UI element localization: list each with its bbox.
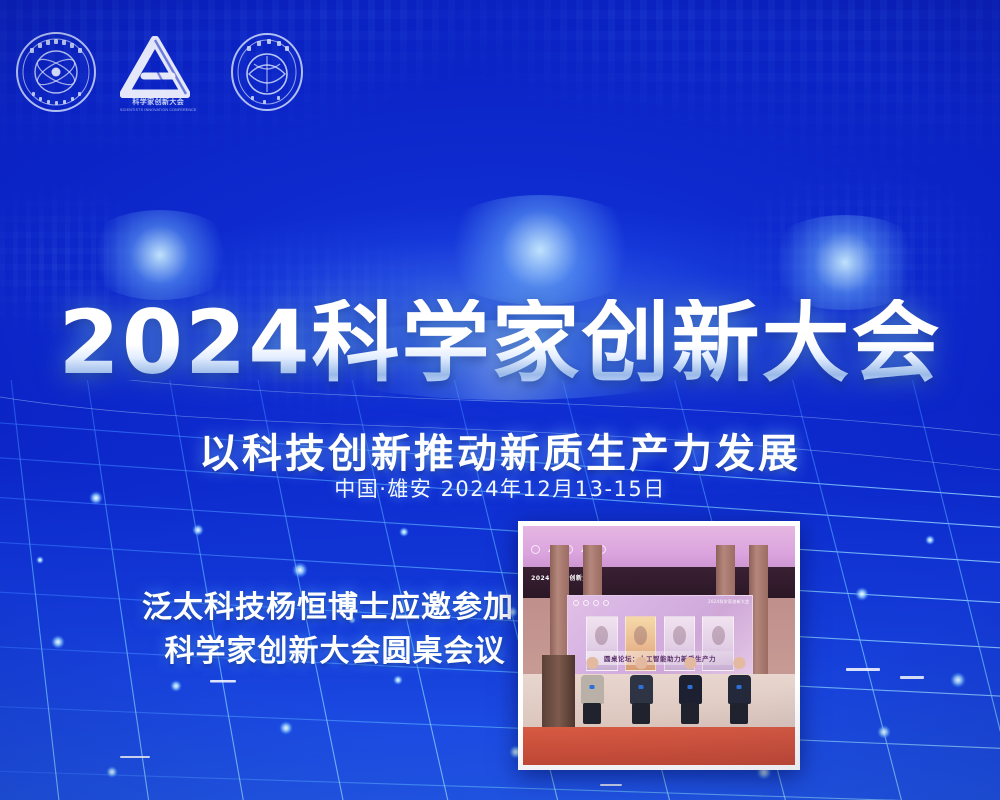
- conference-poster: 科学家创新大会 SCIENTISTS INNOVATION CONFERENCE: [0, 0, 1000, 800]
- logo-caption-main: 科学家创新大会: [132, 99, 184, 106]
- logo-caption-scientist-innovation-conference: 科学家创新大会 SCIENTISTS INNOVATION CONFERENCE: [120, 99, 197, 112]
- page-subtitle: 以科技创新推动新质生产力发展: [0, 421, 1000, 479]
- photo-body: [630, 675, 653, 704]
- photo-session-topic: 圆桌论坛：人工智能助力新质生产力: [586, 651, 734, 665]
- photo-body: [581, 675, 604, 704]
- photo-head: [734, 657, 745, 668]
- photo-screen-title: 2024科学家创新大会: [708, 599, 749, 605]
- photo-podium: [542, 655, 575, 727]
- photo-panelist: [626, 657, 656, 724]
- circle-icon: [603, 600, 609, 606]
- logo-china-association-for-science-and-technology: [14, 30, 98, 114]
- photo-legs: [730, 703, 748, 724]
- photo-stage-carpet: [523, 727, 795, 765]
- photo-head: [685, 657, 696, 668]
- event-photo-frame: 2024科学家创新大会 2024科学家创新大会: [518, 521, 800, 770]
- photo-badge: [737, 685, 742, 689]
- caption-line-2: 科学家创新大会圆桌会议: [128, 630, 528, 674]
- photo-screen-icon-strip: [573, 600, 609, 606]
- page-title: 2024科学家创新大会: [0, 299, 1000, 387]
- logo-row: 科学家创新大会 SCIENTISTS INNOVATION CONFERENCE: [14, 30, 307, 114]
- caption-line-1: 泛太科技杨恒博士应邀参加: [128, 586, 528, 630]
- photo-panelist: [724, 657, 754, 724]
- circle-icon: [573, 600, 579, 606]
- event-photo: 2024科学家创新大会 2024科学家创新大会: [523, 526, 795, 765]
- photo-head: [587, 657, 598, 668]
- oval-seal-icon: [227, 30, 307, 114]
- caption-block: 泛太科技杨恒博士应邀参加 科学家创新大会圆桌会议: [128, 586, 528, 673]
- circle-icon: [583, 600, 589, 606]
- logo-scientist-innovation-conference: 科学家创新大会 SCIENTISTS INNOVATION CONFERENCE: [120, 30, 197, 112]
- event-location-date: 中国·雄安 2024年12月13-15日: [0, 473, 1000, 503]
- photo-legs: [632, 703, 650, 724]
- photo-legs: [681, 703, 699, 724]
- photo-panelist: [577, 657, 607, 724]
- logo-xiongan-institute: [227, 30, 307, 114]
- circular-seal-icon: [14, 30, 98, 114]
- circle-icon: [531, 545, 540, 554]
- triangle-mark-icon: [120, 36, 190, 98]
- photo-badge: [639, 685, 644, 689]
- logo-caption-sub: SCIENTISTS INNOVATION CONFERENCE: [120, 108, 197, 112]
- photo-badge: [688, 685, 693, 689]
- circle-icon: [593, 600, 599, 606]
- photo-head: [636, 657, 647, 668]
- photo-body: [679, 675, 702, 704]
- photo-panelist: [675, 657, 705, 724]
- photo-badge: [590, 685, 595, 689]
- photo-legs: [583, 703, 601, 724]
- photo-body: [728, 675, 751, 704]
